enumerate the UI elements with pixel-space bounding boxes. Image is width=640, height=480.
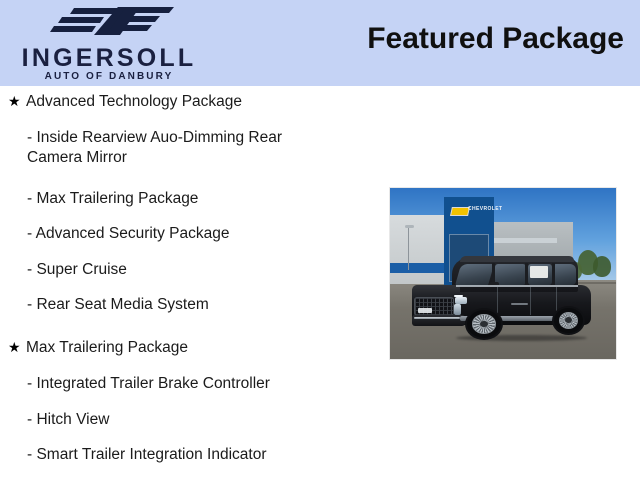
chevrolet-bowtie-icon <box>450 207 470 216</box>
vehicle-grille <box>414 297 455 316</box>
d-pillar <box>552 263 555 286</box>
dealer-name: INGERSOLL <box>14 46 204 71</box>
front-wheel <box>465 308 504 340</box>
bumper-chrome-trim <box>414 317 461 319</box>
feature-item: - Smart Trailer Integration Indicator <box>27 445 372 465</box>
feature-item: - Max Trailering Package <box>27 189 372 209</box>
feature-item: - Rear Seat Media System <box>27 295 372 315</box>
page-title: Featured Package <box>367 22 624 56</box>
license-plate <box>418 308 432 313</box>
quarter-window <box>554 264 576 285</box>
dealer-sign-text: CHEVROLET <box>468 206 502 212</box>
door-seam <box>530 287 531 314</box>
denali-badge <box>511 303 527 305</box>
headlight-vertical <box>454 304 461 315</box>
front-door-window <box>495 264 526 285</box>
rear-wheel <box>552 306 585 335</box>
vehicle-photo: CHEVROLET <box>389 187 617 360</box>
feature-item: - Super Cruise <box>27 260 372 280</box>
building-trim-band <box>494 238 557 243</box>
package-heading-max-trailering: ★ Max Trailering Package <box>8 338 378 357</box>
slide-header: INGERSOLL AUTO OF DANBURY Featured Packa… <box>0 0 640 86</box>
headlight <box>455 297 466 304</box>
dealer-logo: INGERSOLL AUTO OF DANBURY <box>8 2 208 84</box>
window-sticker <box>530 266 548 278</box>
c-pillar <box>525 263 528 286</box>
package-title: Max Trailering Package <box>26 338 378 357</box>
door-seam <box>497 287 498 314</box>
star-bullet-icon: ★ <box>8 92 26 111</box>
feature-item: - Hitch View <box>27 410 372 430</box>
beltline-chrome <box>456 285 578 286</box>
feature-item: - Inside Rearview Auo-Dimming Rear <box>27 128 372 148</box>
feature-item-continuation: Camera Mirror <box>27 148 372 168</box>
vehicle-roof <box>460 256 574 261</box>
light-pole-head <box>405 225 414 228</box>
feature-item: - Integrated Trailer Brake Controller <box>27 374 372 394</box>
dealer-tagline: AUTO OF DANBURY <box>14 72 204 82</box>
package-heading-advanced-technology: ★ Advanced Technology Package <box>8 92 378 111</box>
suv-vehicle <box>404 256 607 342</box>
feature-item: - Advanced Security Package <box>27 224 372 244</box>
ingersoll-winged-emblem-icon <box>48 2 176 42</box>
feature-list: ★ Advanced Technology Package - Inside R… <box>0 86 380 480</box>
package-title: Advanced Technology Package <box>26 92 378 111</box>
star-bullet-icon: ★ <box>8 338 26 357</box>
